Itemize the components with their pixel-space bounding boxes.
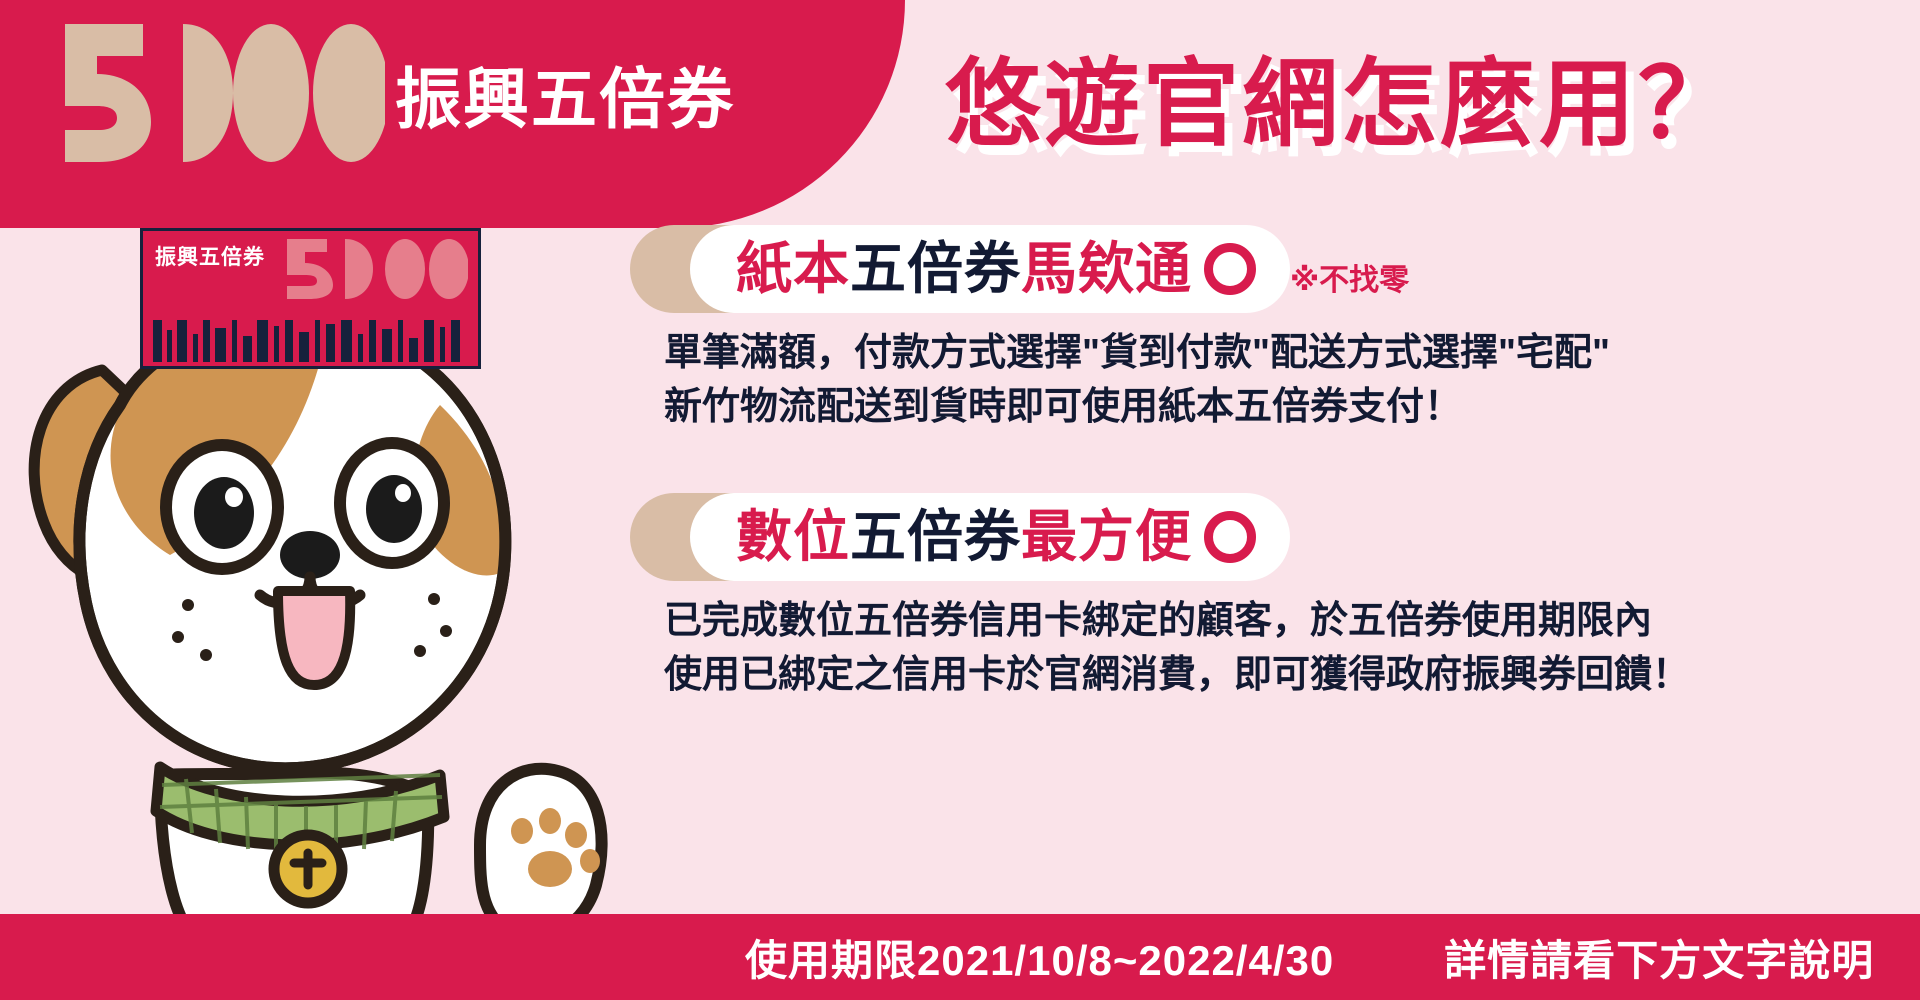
- footer-validity-text: 使用期限2021/10/8~2022/4/30: [745, 927, 1334, 988]
- section-2-heading-row: 數位 五倍券 最方便: [630, 483, 1890, 581]
- section-2-heading-seg-1: 數位: [736, 509, 850, 565]
- section-2-body-line-2: 使用已綁定之信用卡於官網消費，即可獲得政府振興券回饋！: [664, 649, 1890, 703]
- section-2-body-line-1: 已完成數位五倍券信用卡綁定的顧客，於五倍券使用期限內: [664, 595, 1890, 649]
- circle-ok-icon: [1204, 511, 1256, 563]
- voucher-card-label: 振興五倍券: [155, 241, 265, 271]
- section-1-heading-seg-1: 紙本: [736, 241, 850, 297]
- section-1-body: 單筆滿額，付款方式選擇"貨到付款"配送方式選擇"宅配" 新竹物流配送到貨時即可使…: [664, 327, 1890, 435]
- section-1-heading-row: 紙本 五倍券 馬欸通 ※不找零: [630, 215, 1890, 313]
- section-2-body: 已完成數位五倍券信用卡綁定的顧客，於五倍券使用期限內 使用已綁定之信用卡於官網消…: [664, 595, 1890, 703]
- section-1-heading-pill: 紙本 五倍券 馬欸通: [690, 225, 1290, 313]
- section-1-body-line-1: 單筆滿額，付款方式選擇"貨到付款"配送方式選擇"宅配": [664, 327, 1890, 381]
- section-1-heading-seg-3: 馬欸通: [1021, 241, 1192, 297]
- brand-line-text: 振興五倍券: [395, 46, 735, 142]
- section-2-heading-pill: 數位 五倍券 最方便: [690, 493, 1290, 581]
- section-1-note: ※不找零: [1290, 255, 1409, 299]
- circle-ok-icon: [1204, 243, 1256, 295]
- section-1-heading-seg-2: 五倍券: [850, 241, 1021, 297]
- section-1-body-line-2: 新竹物流配送到貨時即可使用紙本五倍券支付！: [664, 381, 1890, 435]
- voucher-5000-logo: [55, 22, 385, 162]
- section-2-heading-seg-3: 最方便: [1021, 509, 1192, 565]
- paper-voucher-card: 振興五倍券: [140, 228, 481, 369]
- section-2-heading-seg-2: 五倍券: [850, 509, 1021, 565]
- footer-more-info-text: 詳情請看下方文字說明: [1444, 927, 1874, 988]
- content-column: 紙本 五倍券 馬欸通 ※不找零 單筆滿額，付款方式選擇"貨到付款"配送方式選擇"…: [630, 215, 1890, 703]
- footer-bar: 使用期限2021/10/8~2022/4/30 詳情請看下方文字說明: [0, 914, 1920, 1000]
- voucher-card-5000-mark: [283, 237, 468, 299]
- voucher-card-barcode: [153, 320, 468, 362]
- page-title: 悠遊官網怎麼用？: [945, 26, 1737, 165]
- banner-canvas: 振興五倍券 悠遊官網怎麼用？: [0, 0, 1920, 1000]
- section-divider-space: [630, 435, 1890, 483]
